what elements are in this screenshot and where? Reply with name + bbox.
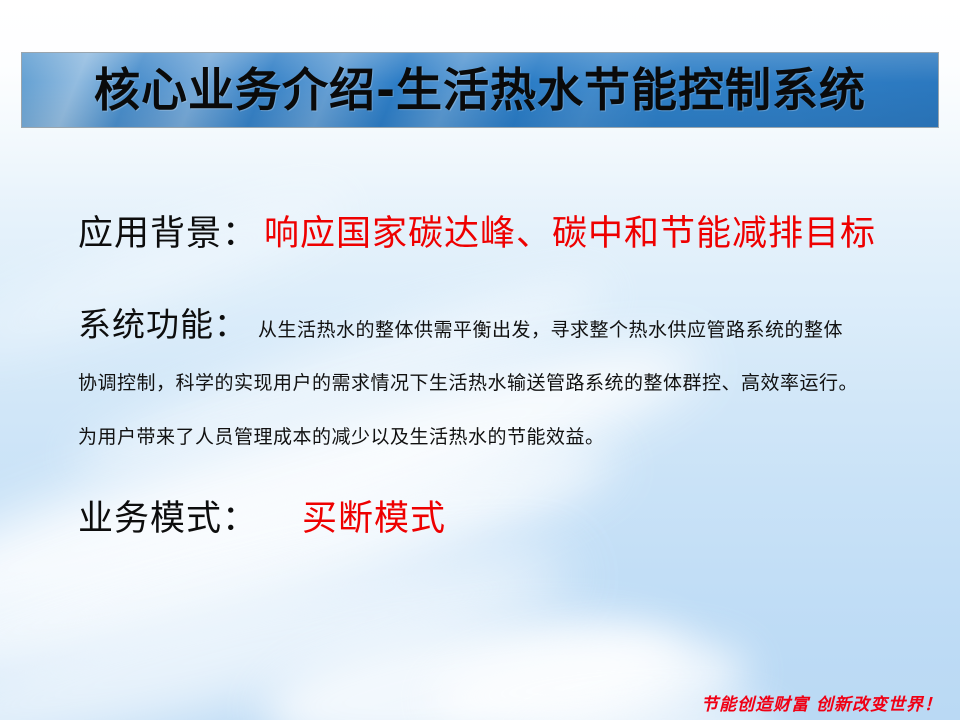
application-background-value: 响应国家碳达峰、碳中和节能减排目标 bbox=[264, 205, 876, 256]
system-function-body-line-1: 从生活热水的整体供需平衡出发，寻求整个热水供应管路系统的整体 bbox=[258, 315, 843, 342]
system-function-body-line-2: 协调控制，科学的实现用户的需求情况下生活热水输送管路系统的整体群控、高效率运行。 bbox=[78, 368, 858, 395]
business-model-value: 买断模式 bbox=[302, 490, 446, 541]
cloud-wisp bbox=[254, 596, 697, 720]
footer-slogan: 节能创造财富 创新改变世界！ bbox=[701, 690, 942, 715]
system-function-body-line-3: 为用户带来了人员管理成本的减少以及生活热水的节能效益。 bbox=[78, 422, 605, 449]
section-business-model: 业务模式： 买断模式 bbox=[78, 490, 446, 541]
business-model-label: 业务模式： bbox=[78, 490, 258, 541]
cloud-wisp bbox=[0, 414, 628, 720]
slide-title-banner: 核心业务介绍-生活热水节能控制系统 bbox=[21, 52, 939, 128]
section-application-background: 应用背景： 响应国家碳达峰、碳中和节能减排目标 bbox=[78, 205, 876, 256]
application-background-label: 应用背景： bbox=[78, 205, 258, 256]
slide-title: 核心业务介绍-生活热水节能控制系统 bbox=[94, 67, 866, 113]
cloud-wisp bbox=[0, 517, 582, 720]
system-function-label: 系统功能： bbox=[78, 298, 248, 346]
section-system-function: 系统功能： 从生活热水的整体供需平衡出发，寻求整个热水供应管路系统的整体 bbox=[78, 298, 843, 346]
slide-canvas: 核心业务介绍-生活热水节能控制系统 应用背景： 响应国家碳达峰、碳中和节能减排目… bbox=[0, 0, 960, 720]
